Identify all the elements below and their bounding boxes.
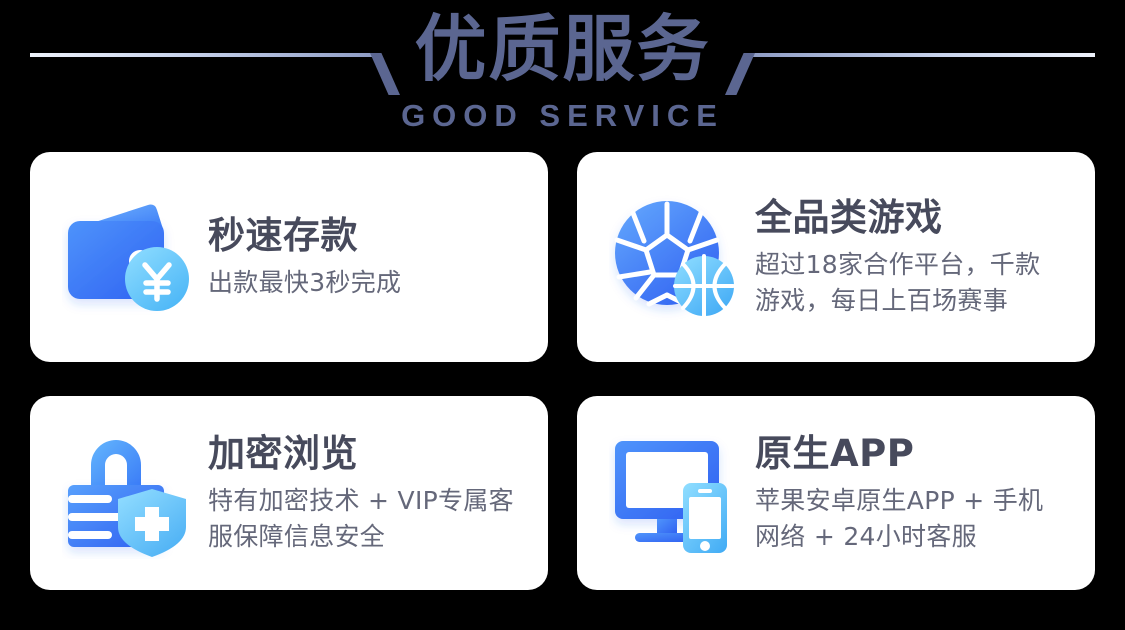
feature-card-grid: 秒速存款 出款最快3秒完成 [30,152,1095,600]
card-description-line: 网络 + 24小时客服 [755,519,1077,555]
card-title: 加密浏览 [208,431,530,477]
card-title: 秒速存款 [208,213,530,259]
card-text-block: 秒速存款 出款最快3秒完成 [194,213,530,301]
wallet-yen-icon [62,191,194,323]
card-description-line: 出款最快3秒完成 [208,265,530,301]
feature-card-all-category-games[interactable]: 全品类游戏 超过18家合作平台，千款 游戏，每日上百场赛事 [577,152,1095,362]
card-description: 超过18家合作平台，千款 游戏，每日上百场赛事 [755,247,1077,319]
card-description-line: 苹果安卓原生APP + 手机 [755,483,1077,519]
feature-card-instant-deposit[interactable]: 秒速存款 出款最快3秒完成 [30,152,548,362]
card-title: 全品类游戏 [755,195,1077,241]
feature-card-encrypted-browsing[interactable]: 加密浏览 特有加密技术 + VIP专属客 服保障信息安全 [30,396,548,590]
card-description-line: 游戏，每日上百场赛事 [755,283,1077,319]
card-description-line: 特有加密技术 + VIP专属客 [208,483,530,519]
card-description-line: 超过18家合作平台，千款 [755,247,1077,283]
banner-header: 优质服务 GOOD SERVICE [0,0,1125,140]
soccer-basketball-icon [609,191,741,323]
page-subtitle: GOOD SERVICE [0,99,1125,133]
card-text-block: 原生APP 苹果安卓原生APP + 手机 网络 + 24小时客服 [741,431,1077,555]
card-title: 原生APP [755,431,1077,477]
promo-banner: 优质服务 GOOD SERVICE [0,0,1125,630]
card-description: 特有加密技术 + VIP专属客 服保障信息安全 [208,483,530,555]
feature-card-native-app[interactable]: 原生APP 苹果安卓原生APP + 手机 网络 + 24小时客服 [577,396,1095,590]
lock-shield-icon [62,427,194,559]
card-description: 出款最快3秒完成 [208,265,530,301]
card-description: 苹果安卓原生APP + 手机 网络 + 24小时客服 [755,483,1077,555]
card-text-block: 加密浏览 特有加密技术 + VIP专属客 服保障信息安全 [194,431,530,555]
card-description-line: 服保障信息安全 [208,519,530,555]
monitor-phone-icon [609,427,741,559]
page-title: 优质服务 [0,8,1125,90]
card-text-block: 全品类游戏 超过18家合作平台，千款 游戏，每日上百场赛事 [741,195,1077,319]
